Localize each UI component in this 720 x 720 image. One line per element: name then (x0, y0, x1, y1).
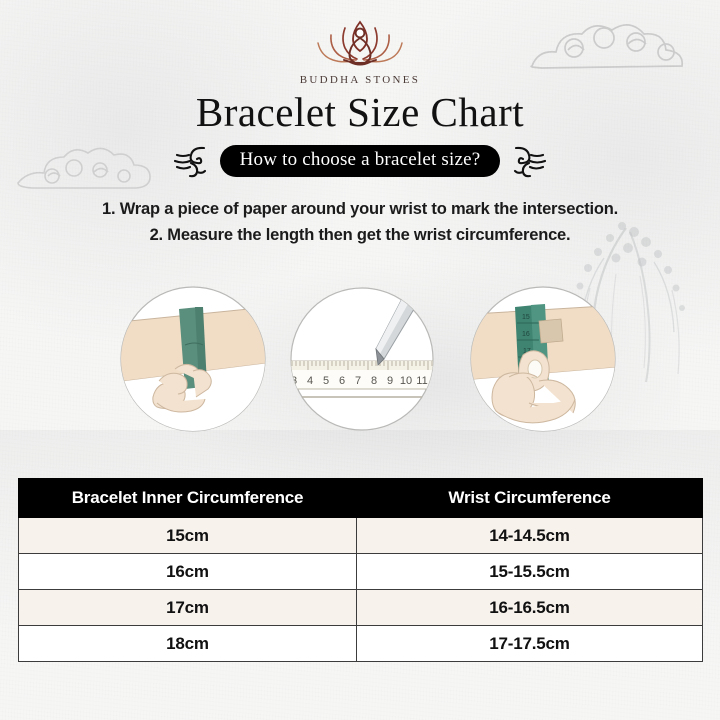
cell-wrist-size: 15-15.5cm (357, 554, 703, 590)
svg-text:6: 6 (339, 375, 345, 387)
svg-text:10: 10 (400, 375, 412, 387)
table-header-bracelet: Bracelet Inner Circumference (19, 479, 357, 518)
cell-bracelet-size: 15cm (19, 518, 357, 554)
figure-measure-with-ruler: 345 678 91011 12 (288, 285, 436, 433)
size-table: Bracelet Inner Circumference Wrist Circu… (18, 478, 703, 662)
svg-text:8: 8 (371, 375, 377, 387)
svg-text:7: 7 (355, 375, 361, 387)
cell-bracelet-size: 17cm (19, 590, 357, 626)
cell-wrist-size: 14-14.5cm (357, 518, 703, 554)
svg-text:11: 11 (416, 375, 427, 387)
table-header-wrist: Wrist Circumference (357, 479, 703, 518)
illustration-row: 345 678 91011 12 (0, 285, 720, 445)
svg-text:9: 9 (387, 375, 393, 387)
brand-name: BUDDHA STONES (0, 74, 720, 86)
page-title: Bracelet Size Chart (0, 88, 720, 136)
how-to-badge-row: How to choose a bracelet size? (0, 144, 720, 178)
cell-wrist-size: 16-16.5cm (357, 590, 703, 626)
instruction-step-2: 2. Measure the length then get the wrist… (0, 222, 720, 248)
how-to-badge: How to choose a bracelet size? (220, 145, 501, 178)
table-row: 16cm 15-15.5cm (19, 554, 703, 590)
svg-text:15: 15 (522, 314, 530, 321)
lotus-meditation-logo-icon (304, 16, 416, 68)
cell-bracelet-size: 18cm (19, 626, 357, 662)
table-row: 17cm 16-16.5cm (19, 590, 703, 626)
size-chart-page: BUDDHA STONES Bracelet Size Chart How to… (0, 0, 720, 720)
instruction-step-1: 1. Wrap a piece of paper around your wri… (0, 196, 720, 222)
figure-wrap-paper-around-wrist (119, 285, 267, 433)
svg-text:16: 16 (522, 331, 530, 338)
svg-text:5: 5 (323, 375, 329, 387)
table-row: 15cm 14-14.5cm (19, 518, 703, 554)
instruction-list: 1. Wrap a piece of paper around your wri… (0, 196, 720, 248)
flourish-ornament-left-icon (171, 144, 211, 178)
svg-text:4: 4 (307, 375, 313, 387)
table-row: 18cm 17-17.5cm (19, 626, 703, 662)
cell-wrist-size: 17-17.5cm (357, 626, 703, 662)
cell-bracelet-size: 16cm (19, 554, 357, 590)
figure-measuring-tape-on-wrist: 151617 (469, 285, 617, 433)
flourish-ornament-right-icon (509, 144, 549, 178)
brand-logo: BUDDHA STONES (0, 16, 720, 86)
svg-text:12: 12 (432, 375, 436, 387)
table-header-row: Bracelet Inner Circumference Wrist Circu… (19, 479, 703, 518)
